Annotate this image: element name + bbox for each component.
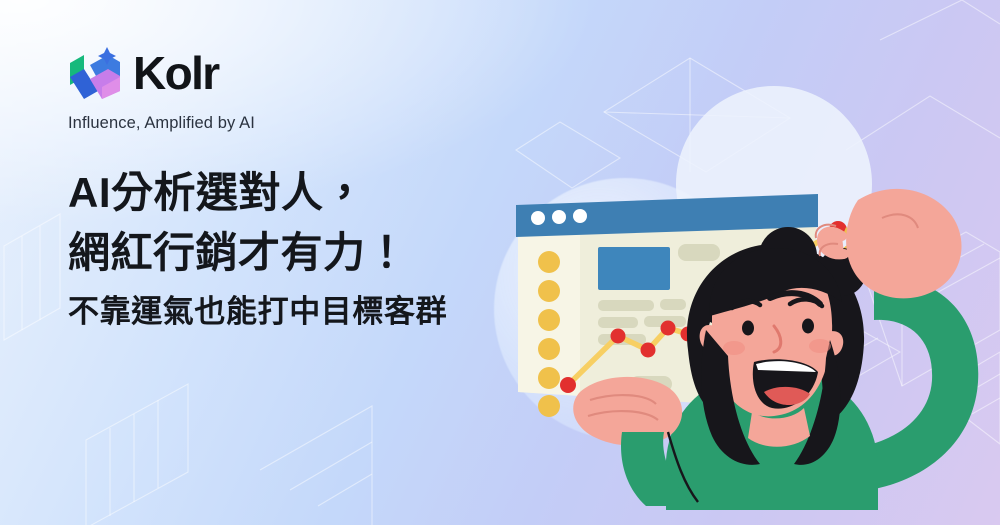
text-column: Kolr Influence, Amplified by AI AI分析選對人，… xyxy=(68,44,538,333)
headline: AI分析選對人， 網紅行銷才有力！ 不靠運氣也能打中目標客群 xyxy=(68,163,538,333)
headline-line-1: AI分析選對人， xyxy=(68,163,538,223)
brand-lockup: Kolr xyxy=(68,44,538,102)
headline-line-2: 網紅行銷才有力！ xyxy=(68,223,538,283)
subheadline-line-1: 不靠運氣也能打中目標客群 xyxy=(68,292,538,332)
kolr-k-mark-icon xyxy=(68,47,122,99)
content-image-block xyxy=(598,247,670,290)
hero-illustration xyxy=(470,40,1000,510)
brand-tagline: Influence, Amplified by AI xyxy=(68,114,538,133)
eye-right xyxy=(802,319,814,334)
content-pill xyxy=(678,244,720,261)
eye-left xyxy=(742,321,754,336)
browser-window-dots xyxy=(531,209,587,225)
brand-wordmark: Kolr xyxy=(133,50,219,96)
promo-banner: Kolr Influence, Amplified by AI AI分析選對人，… xyxy=(0,0,1000,525)
